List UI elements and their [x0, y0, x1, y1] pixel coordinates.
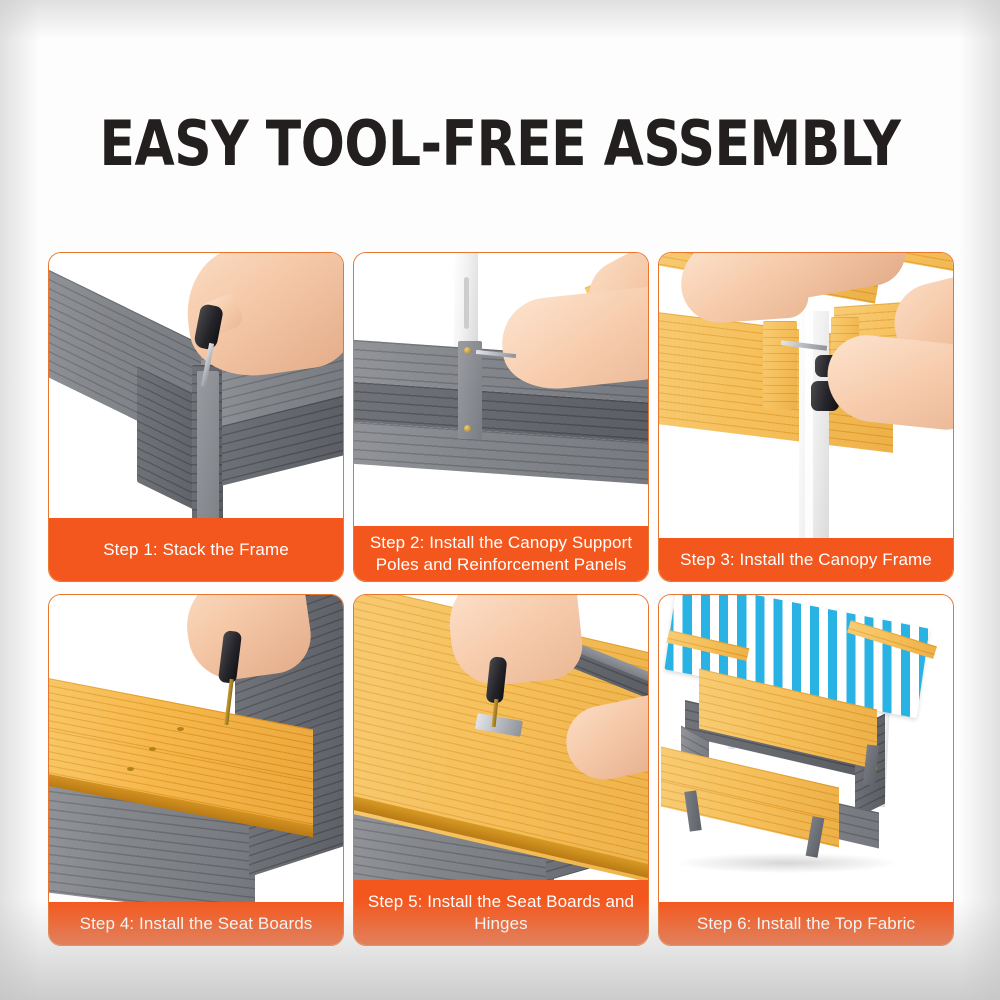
pole-slot — [464, 277, 469, 329]
step-3-caption: Step 3: Install the Canopy Frame — [658, 538, 954, 583]
step-5-caption: Step 5: Install the Seat Boards and Hing… — [353, 880, 649, 946]
screw — [464, 425, 471, 432]
step-6-illustration — [659, 595, 953, 945]
hand — [498, 284, 648, 394]
screw — [464, 347, 471, 354]
assembly-infographic: EASY TOOL-FREE ASSEMBLY Step 1: Stack th… — [0, 0, 1000, 1000]
step-card-4[interactable]: Step 4: Install the Seat Boards — [48, 594, 344, 946]
step-card-2[interactable]: Step 2: Install the Canopy Support Poles… — [353, 252, 649, 582]
screw-hole — [149, 747, 156, 751]
step-3-illustration — [659, 253, 953, 581]
step-4-illustration — [49, 595, 343, 945]
step-card-5[interactable]: Step 5: Install the Seat Boards and Hing… — [353, 594, 649, 946]
steps-grid: Step 1: Stack the Frame Step 2: Install … — [48, 252, 954, 946]
corner-post-face — [197, 371, 219, 523]
ground-shadow — [677, 853, 897, 873]
step-card-3[interactable]: Step 3: Install the Canopy Frame — [658, 252, 954, 582]
screw-hole — [177, 727, 184, 731]
hand-left — [678, 253, 809, 325]
reinforcement-panel — [458, 341, 482, 439]
step-1-caption: Step 1: Stack the Frame — [48, 518, 344, 583]
step-6-caption: Step 6: Install the Top Fabric — [658, 902, 954, 947]
step-card-6[interactable]: Step 6: Install the Top Fabric — [658, 594, 954, 946]
step-card-1[interactable]: Step 1: Stack the Frame — [48, 252, 344, 582]
page-title: EASY TOOL-FREE ASSEMBLY — [35, 112, 965, 176]
screw-hole — [127, 767, 134, 771]
step-2-caption: Step 2: Install the Canopy Support Poles… — [353, 526, 649, 582]
wood-bracket — [763, 321, 797, 409]
step-4-caption: Step 4: Install the Seat Boards — [48, 902, 344, 947]
